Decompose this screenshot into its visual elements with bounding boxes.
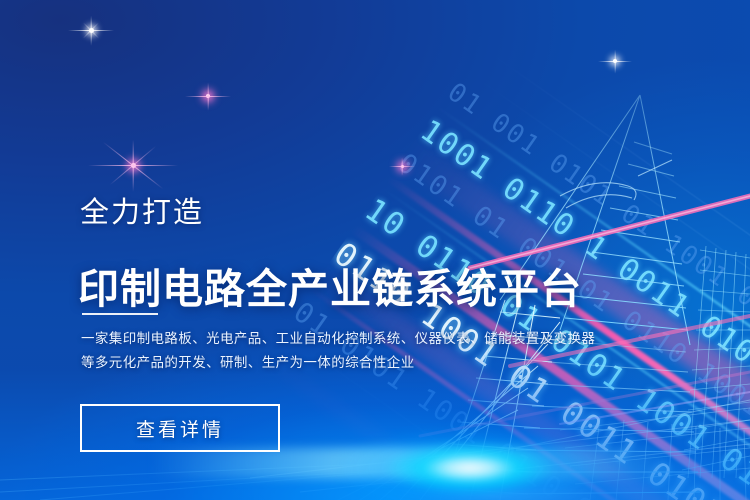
- banner-eyebrow: 全力打造: [80, 196, 204, 230]
- banner-description: 一家集印制电路板、光电产品、工业自动化控制系统、仪器仪表、储能装置及变换器 等多…: [81, 327, 561, 375]
- banner-content: 全力打造 印制电路全产业链系统平台 一家集印制电路板、光电产品、工业自动化控制系…: [0, 0, 750, 500]
- banner-headline: 印制电路全产业链系统平台: [78, 264, 582, 314]
- hero-banner: 01 001 0101 01 1001 0110 01 1001 0110 1 …: [0, 0, 750, 500]
- view-details-button[interactable]: 查看详情: [80, 404, 280, 452]
- divider-rule: [82, 313, 158, 315]
- description-line-2: 等多元化产品的开发、研制、生产为一体的综合性企业: [81, 351, 561, 375]
- description-line-1: 一家集印制电路板、光电产品、工业自动化控制系统、仪器仪表、储能装置及变换器: [81, 327, 561, 351]
